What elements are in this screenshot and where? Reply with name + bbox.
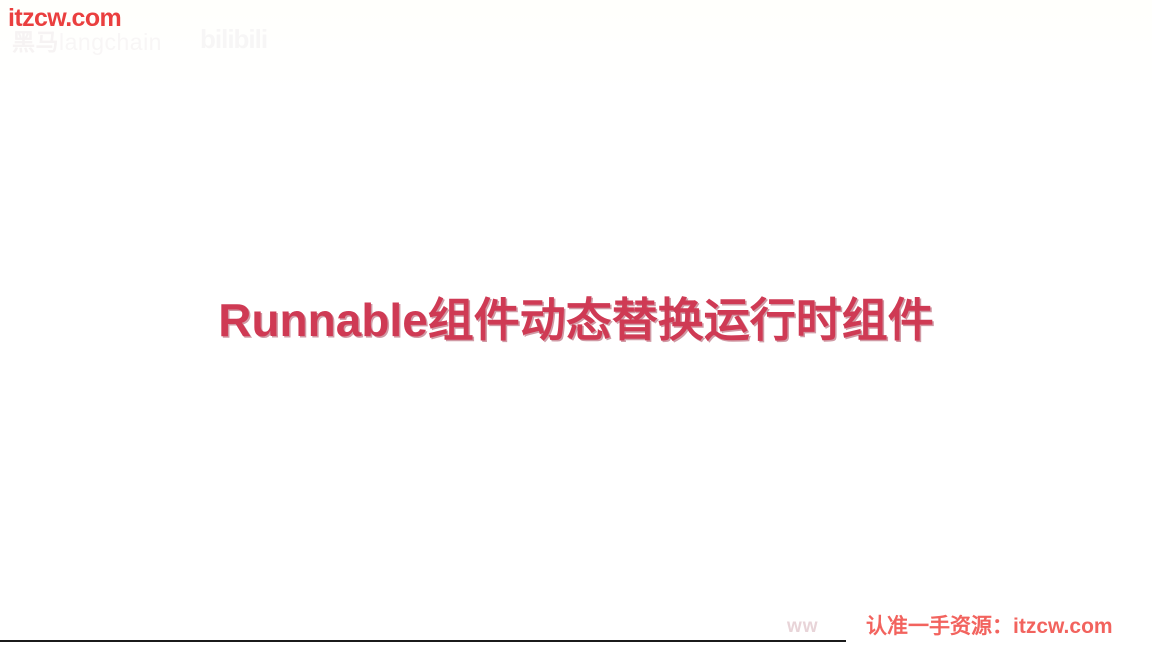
slide-canvas: itzcw.com 黑马langchain bilibili Runnable组…	[0, 0, 1152, 646]
bottom-divider	[0, 640, 846, 642]
slide-title: Runnable组件动态替换运行时组件	[218, 295, 934, 346]
footer-source-note: 认准一手资源：itzcw.com	[866, 615, 1113, 639]
bilibili-watermark: bilibili	[200, 26, 267, 52]
brand-block: itzcw.com 黑马langchain bilibili	[8, 4, 308, 64]
title-container: Runnable组件动态替换运行时组件	[0, 0, 1152, 646]
brand-watermark: 黑马langchain	[12, 30, 162, 54]
site-logo: itzcw.com	[8, 6, 121, 31]
brand-watermark-cn: 黑马	[12, 29, 59, 55]
brand-watermark-en: langchain	[59, 29, 162, 55]
ww-watermark: ww	[787, 617, 819, 636]
